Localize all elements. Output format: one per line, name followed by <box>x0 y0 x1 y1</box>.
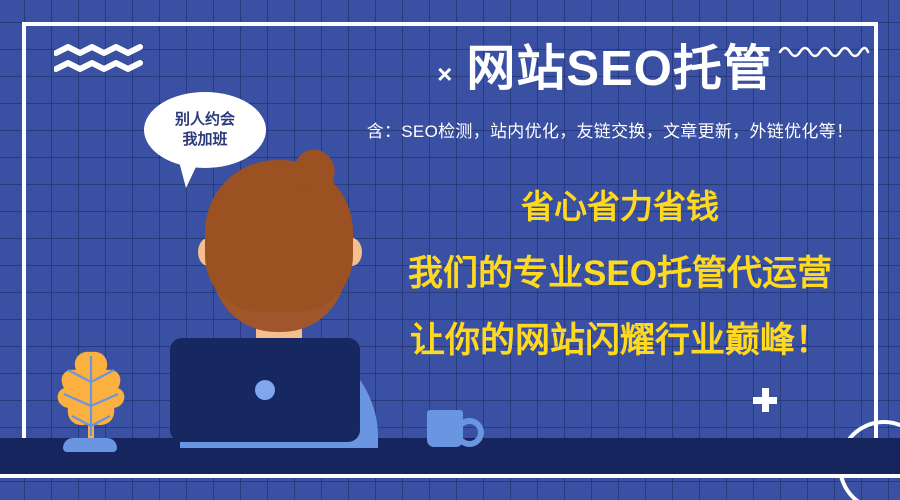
title-row: × 网站SEO托管 <box>340 44 870 95</box>
slogan-line-1: 省心省力省钱 <box>360 190 880 223</box>
page-subtitle: 含：SEO检测，站内优化，友链交换，文章更新，外链优化等！ <box>330 117 890 142</box>
potted-plant-leaves <box>48 348 134 440</box>
page-title: 网站SEO托管 <box>466 44 772 95</box>
plant-pot <box>63 438 117 452</box>
x-mark-icon: × <box>437 61 452 87</box>
speech-bubble-line-2: 我加班 <box>182 130 227 150</box>
slogan-list: 省心省力省钱 我们的专业SEO托管代运营 让你的网站闪耀行业巅峰！ <box>360 190 880 358</box>
slogan-line-3: 让你的网站闪耀行业巅峰！ <box>360 323 880 358</box>
slogan-line-2: 我们的专业SEO托管代运营 <box>360 256 880 291</box>
desk-edge-highlight <box>0 474 900 478</box>
laptop-logo-icon <box>255 380 275 400</box>
seo-banner: × 网站SEO托管 含：SEO检测，站内优化，友链交换，文章更新，外链优化等！ … <box>0 0 900 500</box>
wave-left-icon <box>54 44 146 78</box>
speech-bubble-line-1: 别人约会 <box>175 110 235 130</box>
coffee-mug <box>427 410 463 447</box>
speech-bubble: 别人约会 我加班 <box>144 92 266 168</box>
plus-icon <box>753 388 777 412</box>
laptop <box>170 338 360 442</box>
